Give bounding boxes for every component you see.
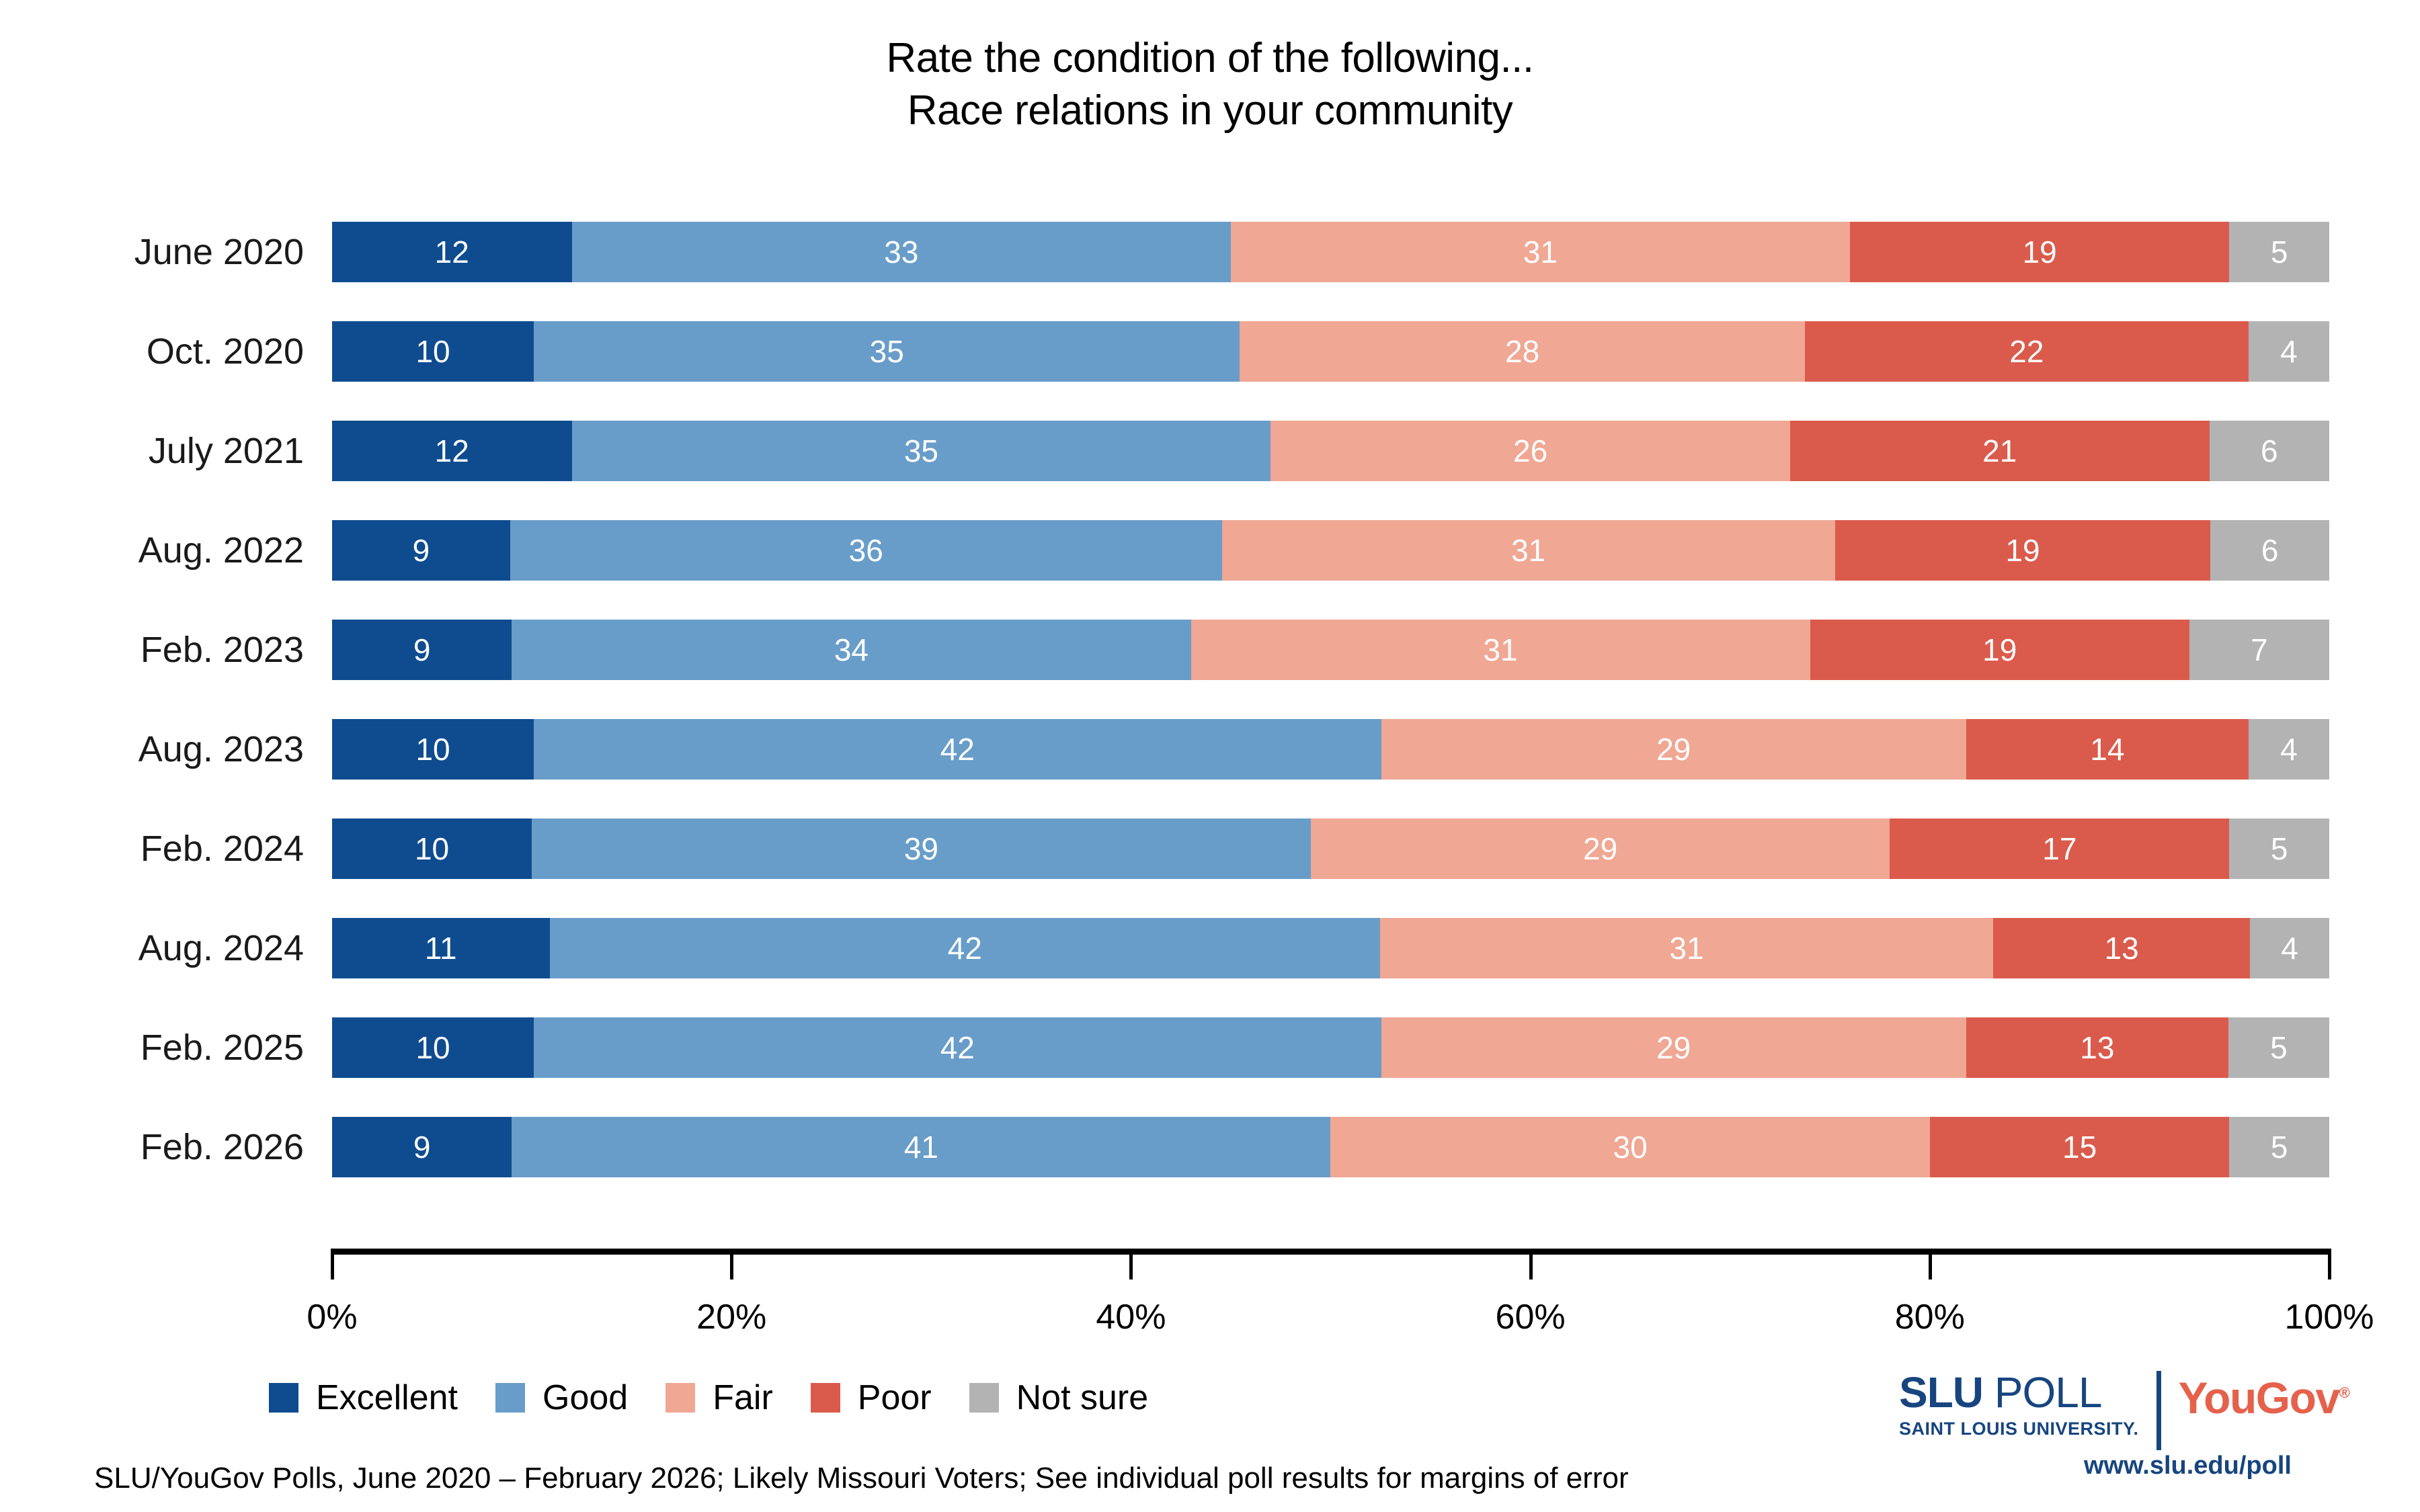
yougov-logo: YouGov®: [2179, 1371, 2349, 1420]
x-axis-line: [331, 1249, 2331, 1255]
row-label-feb-2026: Feb. 2026: [0, 1105, 304, 1189]
chart-row: Feb. 202694130155: [0, 1105, 2420, 1189]
chart-row: Oct. 2020103528224: [0, 309, 2420, 394]
bar-segment-not-sure[interactable]: 5: [2228, 1017, 2329, 1078]
row-label-june-2020: June 2020: [0, 210, 304, 294]
stacked-bar: 123526216: [332, 421, 2329, 481]
stacked-bar: 103528224: [332, 321, 2329, 382]
row-label-feb-2023: Feb. 2023: [0, 607, 304, 692]
bar-segment-poor[interactable]: 19: [1835, 520, 2211, 581]
bar-segment-fair[interactable]: 31: [1231, 222, 1850, 282]
bar-segment-good[interactable]: 39: [532, 818, 1311, 879]
bar-segment-excellent[interactable]: 10: [332, 1017, 534, 1078]
chart-row: July 2021123526216: [0, 409, 2420, 493]
bar-segment-poor[interactable]: 19: [1810, 620, 2189, 680]
stacked-bar: 103929175: [332, 818, 2329, 879]
stacked-bar: 123331195: [332, 222, 2329, 282]
legend-label: Poor: [858, 1378, 932, 1418]
bar-segment-good[interactable]: 33: [572, 222, 1231, 282]
x-axis-tick: [2328, 1249, 2331, 1279]
bar-segment-fair[interactable]: 29: [1381, 1017, 1966, 1078]
stacked-bar: 104229144: [332, 719, 2329, 780]
bar-segment-not-sure[interactable]: 5: [2229, 1117, 2329, 1177]
x-axis-tick: [1929, 1249, 1932, 1279]
bar-segment-good[interactable]: 42: [550, 918, 1380, 978]
slu-bold: SLU: [1899, 1368, 1983, 1417]
bar-segment-excellent[interactable]: 10: [332, 321, 534, 382]
bar-segment-excellent[interactable]: 12: [332, 222, 572, 282]
legend-item-excellent[interactable]: Excellent: [269, 1378, 458, 1418]
bar-segment-not-sure[interactable]: 4: [2249, 321, 2329, 382]
bar-segment-good[interactable]: 35: [534, 321, 1240, 382]
bar-segment-good[interactable]: 41: [512, 1117, 1330, 1177]
stacked-bar: 104229135: [332, 1017, 2329, 1078]
legend-label: Excellent: [316, 1378, 458, 1418]
bar-segment-excellent[interactable]: 11: [332, 918, 550, 978]
x-axis-tick-label: 20%: [696, 1297, 766, 1337]
row-label-aug-2022: Aug. 2022: [0, 508, 304, 593]
bar-segment-fair[interactable]: 29: [1381, 719, 1966, 780]
x-axis-tick: [1129, 1249, 1133, 1279]
footnote: SLU/YouGov Polls, June 2020 – February 2…: [94, 1462, 1629, 1495]
bar-segment-excellent[interactable]: 9: [332, 620, 512, 680]
legend-label: Fair: [713, 1378, 773, 1418]
legend-swatch-icon: [269, 1383, 298, 1413]
x-axis-tick-label: 100%: [2285, 1297, 2374, 1337]
bar-segment-excellent[interactable]: 9: [332, 520, 510, 581]
bar-segment-poor[interactable]: 15: [1930, 1117, 2230, 1177]
logo-divider: [2156, 1371, 2161, 1450]
bar-segment-poor[interactable]: 22: [1805, 321, 2249, 382]
slu-poll-wordmark: SLU POLL: [1899, 1371, 2101, 1414]
bar-segment-poor[interactable]: 14: [1966, 719, 2249, 780]
stacked-bar: 114231134: [332, 918, 2329, 978]
x-axis-tick: [730, 1249, 733, 1279]
bar-segment-not-sure[interactable]: 6: [2210, 520, 2329, 581]
x-axis-tick-label: 60%: [1496, 1297, 1566, 1337]
stacked-bar: 93631196: [332, 520, 2329, 581]
chart-row: Feb. 2024103929175: [0, 806, 2420, 891]
bar-segment-poor[interactable]: 17: [1890, 818, 2229, 879]
bar-segment-not-sure[interactable]: 4: [2250, 918, 2329, 978]
chart-row: June 2020123331195: [0, 210, 2420, 294]
bar-segment-excellent[interactable]: 10: [332, 719, 534, 780]
x-axis-tick: [1529, 1249, 1533, 1279]
chart-row: Aug. 2024114231134: [0, 906, 2420, 991]
row-label-feb-2025: Feb. 2025: [0, 1005, 304, 1090]
bar-segment-fair[interactable]: 31: [1191, 620, 1810, 680]
saint-louis-university-subtitle: SAINT LOUIS UNIVERSITY.: [1899, 1419, 2139, 1439]
x-axis-tick-label: 0%: [307, 1297, 357, 1337]
stacked-bar: 94130155: [332, 1117, 2329, 1177]
yougov-wordmark: YouGov®: [2179, 1371, 2349, 1420]
registered-trademark-icon: ®: [2339, 1384, 2349, 1401]
bar-segment-fair[interactable]: 29: [1311, 818, 1890, 879]
bar-segment-poor[interactable]: 13: [1993, 918, 2250, 978]
legend-item-fair[interactable]: Fair: [665, 1378, 773, 1418]
x-axis-tick-label: 80%: [1895, 1297, 1965, 1337]
bar-segment-fair[interactable]: 30: [1330, 1117, 1929, 1177]
bar-segment-good[interactable]: 42: [534, 719, 1381, 780]
bar-segment-good[interactable]: 35: [572, 421, 1271, 481]
legend-item-poor[interactable]: Poor: [811, 1378, 932, 1418]
chart-row: Feb. 202393431197: [0, 607, 2420, 692]
chart-legend: ExcellentGoodFairPoorNot sure: [269, 1374, 1186, 1421]
slu-poll-logo: SLU POLL SAINT LOUIS UNIVERSITY.: [1899, 1371, 2139, 1439]
bar-segment-good[interactable]: 36: [510, 520, 1222, 581]
legend-swatch-icon: [811, 1383, 840, 1413]
legend-label: Good: [542, 1378, 628, 1418]
row-label-feb-2024: Feb. 2024: [0, 806, 304, 891]
legend-swatch-icon: [969, 1383, 999, 1413]
bar-segment-not-sure[interactable]: 4: [2249, 719, 2329, 780]
bar-segment-not-sure[interactable]: 5: [2229, 818, 2329, 879]
bar-segment-not-sure[interactable]: 5: [2229, 222, 2329, 282]
row-label-july-2021: July 2021: [0, 409, 304, 493]
legend-swatch-icon: [495, 1383, 525, 1413]
stacked-bar-chart: June 2020123331195Oct. 2020103528224July…: [0, 0, 2420, 1512]
row-label-aug-2024: Aug. 2024: [0, 906, 304, 991]
bar-segment-fair[interactable]: 31: [1380, 918, 1993, 978]
bar-segment-fair[interactable]: 31: [1222, 520, 1835, 581]
chart-row: Aug. 202293631196: [0, 508, 2420, 593]
chart-row: Feb. 2025104229135: [0, 1005, 2420, 1090]
bar-segment-poor[interactable]: 21: [1790, 421, 2210, 481]
slu-poll-url[interactable]: www.slu.edu/poll: [2084, 1452, 2292, 1480]
bar-segment-fair[interactable]: 26: [1270, 421, 1789, 481]
bar-segment-fair[interactable]: 28: [1240, 321, 1804, 382]
bar-segment-excellent[interactable]: 9: [332, 1117, 512, 1177]
x-axis-tick: [331, 1249, 334, 1279]
bar-segment-excellent[interactable]: 10: [332, 818, 532, 879]
row-label-aug-2023: Aug. 2023: [0, 707, 304, 792]
bar-segment-good[interactable]: 42: [534, 1017, 1381, 1078]
legend-item-good[interactable]: Good: [495, 1378, 628, 1418]
bar-segment-poor[interactable]: 19: [1850, 222, 2229, 282]
chart-row: Aug. 2023104229144: [0, 707, 2420, 792]
bar-segment-excellent[interactable]: 12: [332, 421, 572, 481]
legend-swatch-icon: [665, 1383, 695, 1413]
bar-segment-not-sure[interactable]: 7: [2189, 620, 2329, 680]
row-label-oct-2020: Oct. 2020: [0, 309, 304, 394]
legend-item-not-sure[interactable]: Not sure: [969, 1378, 1149, 1418]
legend-label: Not sure: [1016, 1378, 1149, 1418]
slu-poll-thin: POLL: [1983, 1368, 2101, 1417]
bar-segment-not-sure[interactable]: 6: [2210, 421, 2329, 481]
x-axis-tick-label: 40%: [1096, 1297, 1166, 1337]
yougov-text: YouGov: [2179, 1373, 2339, 1423]
bar-segment-poor[interactable]: 13: [1966, 1017, 2228, 1078]
stacked-bar: 93431197: [332, 620, 2329, 680]
bar-segment-good[interactable]: 34: [512, 620, 1191, 680]
